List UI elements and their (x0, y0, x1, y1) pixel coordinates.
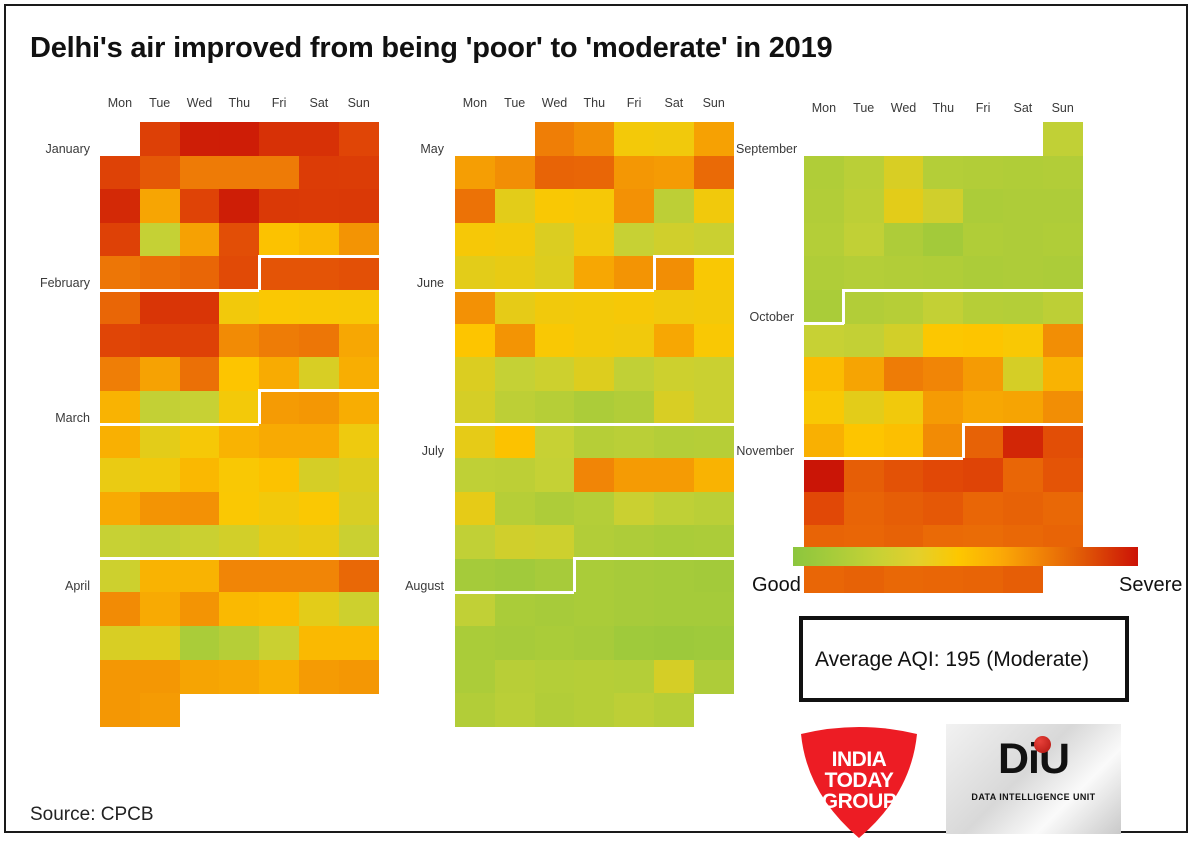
day-cell (963, 324, 1003, 358)
day-cell (694, 223, 734, 257)
day-cell (1003, 324, 1043, 358)
day-cell (1043, 391, 1083, 425)
day-cell (140, 559, 180, 593)
day-cell (614, 559, 654, 593)
day-cell (100, 256, 140, 290)
day-cell (694, 525, 734, 559)
day-cell (140, 660, 180, 694)
month-separator (455, 423, 734, 426)
day-cell (299, 492, 339, 526)
month-label-september: September (736, 142, 794, 156)
day-cell (339, 492, 379, 526)
day-cell (100, 559, 140, 593)
day-cell (455, 492, 495, 526)
day-cell (614, 592, 654, 626)
day-cell (495, 391, 535, 425)
day-cell (694, 559, 734, 593)
day-cell (804, 290, 844, 324)
day-cell (654, 156, 694, 190)
dow-header-fri: Fri (963, 101, 1003, 115)
day-cell (963, 391, 1003, 425)
day-cell (963, 189, 1003, 223)
day-cell (140, 122, 180, 156)
day-cell (574, 223, 614, 257)
month-separator (455, 591, 574, 594)
day-cell (219, 391, 259, 425)
day-cell (455, 391, 495, 425)
day-cell (963, 156, 1003, 190)
day-cell (844, 256, 884, 290)
day-cell (614, 324, 654, 358)
day-cell (259, 592, 299, 626)
day-cell (535, 626, 575, 660)
dow-header-mon: Mon (455, 96, 495, 110)
day-cell (455, 156, 495, 190)
day-cell (654, 458, 694, 492)
day-cell (455, 223, 495, 257)
month-label-february: February (28, 276, 90, 290)
day-cell (180, 189, 220, 223)
day-cell (495, 492, 535, 526)
dow-header-sat: Sat (654, 96, 694, 110)
day-cell (339, 189, 379, 223)
day-cell (574, 693, 614, 727)
day-cell (535, 189, 575, 223)
day-cell (1003, 223, 1043, 257)
day-cell (339, 458, 379, 492)
day-cell (219, 324, 259, 358)
infographic-frame: Delhi's air improved from being 'poor' t… (4, 4, 1188, 833)
month-separator (573, 557, 734, 560)
day-cell (654, 492, 694, 526)
day-cell (535, 156, 575, 190)
day-cell (535, 592, 575, 626)
day-cell (495, 290, 535, 324)
day-cell (804, 424, 844, 458)
day-cell (884, 492, 924, 526)
month-separator (100, 557, 379, 560)
day-cell (535, 559, 575, 593)
day-cell (535, 223, 575, 257)
day-cell (535, 122, 575, 156)
day-cell (614, 122, 654, 156)
day-cell (923, 156, 963, 190)
day-cell (844, 189, 884, 223)
month-separator (962, 423, 1083, 426)
day-cell (884, 391, 924, 425)
day-cell (339, 256, 379, 290)
day-cell (219, 122, 259, 156)
day-cell (1043, 256, 1083, 290)
dow-header-sun: Sun (694, 96, 734, 110)
india-today-group-logo: INDIA TODAY GROUP (799, 722, 919, 840)
day-cell (140, 357, 180, 391)
day-cell (1043, 122, 1083, 156)
day-cell (455, 424, 495, 458)
day-cell (259, 357, 299, 391)
day-cell (884, 424, 924, 458)
day-cell (140, 424, 180, 458)
day-cell (694, 256, 734, 290)
day-cell (614, 256, 654, 290)
day-cell (495, 357, 535, 391)
day-cell (804, 156, 844, 190)
day-cell (455, 189, 495, 223)
month-separator (258, 255, 379, 258)
day-cell (614, 156, 654, 190)
month-separator (962, 424, 965, 458)
day-cell (844, 357, 884, 391)
day-cell (339, 290, 379, 324)
day-cell (694, 458, 734, 492)
month-separator (258, 391, 261, 425)
day-cell (219, 424, 259, 458)
day-cell (259, 458, 299, 492)
day-cell (654, 391, 694, 425)
day-cell (100, 660, 140, 694)
day-cell (299, 223, 339, 257)
day-cell (614, 660, 654, 694)
day-cell (140, 391, 180, 425)
day-cell (259, 626, 299, 660)
day-cell (654, 592, 694, 626)
day-cell (844, 156, 884, 190)
dow-header-fri: Fri (614, 96, 654, 110)
day-cell (1043, 223, 1083, 257)
dow-header-wed: Wed (180, 96, 220, 110)
day-cell (574, 492, 614, 526)
day-cell (654, 324, 694, 358)
day-cell (654, 189, 694, 223)
day-cell (140, 492, 180, 526)
day-cell (574, 156, 614, 190)
day-cell (455, 458, 495, 492)
day-cell (614, 391, 654, 425)
day-cell (495, 559, 535, 593)
day-cell (219, 357, 259, 391)
day-cell (100, 626, 140, 660)
day-cell (259, 525, 299, 559)
day-cell (963, 223, 1003, 257)
day-cell (654, 122, 694, 156)
day-cell (1043, 458, 1083, 492)
dow-header-sun: Sun (339, 96, 379, 110)
day-cell (535, 693, 575, 727)
day-cell (923, 256, 963, 290)
day-cell (339, 626, 379, 660)
day-cell (299, 559, 339, 593)
day-cell (495, 458, 535, 492)
day-cell (219, 223, 259, 257)
diu-dot-icon (1034, 736, 1051, 753)
day-cell (804, 256, 844, 290)
day-cell (1003, 156, 1043, 190)
day-cell (614, 458, 654, 492)
day-cell (535, 357, 575, 391)
day-cell (219, 626, 259, 660)
day-cell (884, 458, 924, 492)
day-cell (299, 290, 339, 324)
day-cell (180, 525, 220, 559)
itg-line-3: GROUP (799, 790, 919, 814)
day-cell (535, 391, 575, 425)
day-cell (574, 189, 614, 223)
day-cell (495, 156, 535, 190)
day-cell (299, 324, 339, 358)
dow-header-thu: Thu (923, 101, 963, 115)
month-separator (100, 423, 259, 426)
day-cell (339, 660, 379, 694)
day-cell (299, 391, 339, 425)
day-cell (923, 189, 963, 223)
day-cell (574, 525, 614, 559)
day-cell (923, 357, 963, 391)
day-cell (180, 492, 220, 526)
dow-header-thu: Thu (219, 96, 259, 110)
day-cell (963, 256, 1003, 290)
day-cell (299, 256, 339, 290)
day-cell (219, 156, 259, 190)
dow-header-sat: Sat (1003, 101, 1043, 115)
day-cell (844, 324, 884, 358)
day-cell (180, 256, 220, 290)
day-cell (140, 324, 180, 358)
day-cell (535, 525, 575, 559)
average-aqi-text: Average AQI: 195 (Moderate) (815, 648, 1089, 672)
day-cell (1003, 357, 1043, 391)
day-cell (219, 290, 259, 324)
day-cell (574, 592, 614, 626)
day-cell (100, 189, 140, 223)
day-cell (1003, 189, 1043, 223)
dow-header-tue: Tue (844, 101, 884, 115)
legend-low-label: Good (752, 574, 801, 597)
day-cell (219, 660, 259, 694)
day-cell (455, 592, 495, 626)
day-cell (804, 324, 844, 358)
day-cell (259, 660, 299, 694)
day-cell (614, 189, 654, 223)
day-cell (923, 458, 963, 492)
day-cell (574, 122, 614, 156)
day-cell (574, 290, 614, 324)
day-cell (923, 391, 963, 425)
day-cell (100, 324, 140, 358)
day-cell (654, 357, 694, 391)
legend-high-label: Severe (1119, 574, 1182, 597)
day-cell (495, 424, 535, 458)
day-cell (180, 424, 220, 458)
day-cell (654, 256, 694, 290)
day-cell (299, 592, 339, 626)
day-cell (884, 290, 924, 324)
day-cell (654, 525, 694, 559)
day-cell (884, 256, 924, 290)
day-cell (1043, 290, 1083, 324)
month-label-november: November (736, 444, 794, 458)
day-cell (100, 223, 140, 257)
day-cell (299, 122, 339, 156)
day-cell (694, 492, 734, 526)
day-cell (1003, 290, 1043, 324)
day-cell (574, 256, 614, 290)
dow-header-mon: Mon (804, 101, 844, 115)
day-cell (100, 693, 140, 727)
day-cell (140, 189, 180, 223)
day-cell (614, 357, 654, 391)
day-cell (1003, 458, 1043, 492)
day-cell (180, 559, 220, 593)
day-cell (259, 324, 299, 358)
day-cell (140, 592, 180, 626)
day-cell (219, 492, 259, 526)
day-cell (180, 223, 220, 257)
day-cell (299, 156, 339, 190)
dow-header-tue: Tue (495, 96, 535, 110)
day-cell (535, 424, 575, 458)
day-cell (299, 357, 339, 391)
day-cell (574, 324, 614, 358)
day-cell (339, 156, 379, 190)
day-cell (455, 559, 495, 593)
month-separator (100, 289, 259, 292)
day-cell (100, 458, 140, 492)
month-separator (804, 322, 844, 325)
day-cell (694, 592, 734, 626)
day-cell (339, 223, 379, 257)
day-cell (694, 391, 734, 425)
day-cell (140, 290, 180, 324)
day-cell (654, 626, 694, 660)
day-cell (1003, 391, 1043, 425)
month-separator (804, 457, 963, 460)
color-scale-legend (793, 547, 1138, 566)
day-cell (1043, 156, 1083, 190)
day-cell (495, 223, 535, 257)
day-cell (574, 458, 614, 492)
diu-subtitle: DATA INTELLIGENCE UNIT (946, 792, 1121, 802)
day-cell (614, 290, 654, 324)
day-cell (1043, 189, 1083, 223)
day-cell (844, 391, 884, 425)
day-cell (654, 559, 694, 593)
day-cell (614, 492, 654, 526)
day-cell (219, 189, 259, 223)
day-cell (574, 660, 614, 694)
month-separator (842, 289, 1082, 292)
day-cell (339, 424, 379, 458)
day-cell (1043, 357, 1083, 391)
day-cell (694, 357, 734, 391)
day-cell (140, 458, 180, 492)
day-cell (535, 324, 575, 358)
day-cell (219, 525, 259, 559)
day-cell (923, 324, 963, 358)
day-cell (259, 424, 299, 458)
day-cell (259, 290, 299, 324)
day-cell (339, 525, 379, 559)
day-cell (100, 357, 140, 391)
day-cell (180, 626, 220, 660)
dow-header-wed: Wed (535, 96, 575, 110)
day-cell (259, 559, 299, 593)
day-cell (100, 290, 140, 324)
month-separator (258, 389, 379, 392)
day-cell (299, 189, 339, 223)
day-cell (963, 290, 1003, 324)
day-cell (844, 290, 884, 324)
day-cell (495, 525, 535, 559)
month-label-october: October (736, 310, 794, 324)
dow-header-wed: Wed (884, 101, 924, 115)
average-aqi-box: Average AQI: 195 (Moderate) (799, 616, 1129, 702)
month-separator (258, 256, 261, 290)
day-cell (574, 391, 614, 425)
day-cell (259, 223, 299, 257)
day-cell (100, 156, 140, 190)
day-cell (884, 223, 924, 257)
day-cell (694, 626, 734, 660)
dow-header-sun: Sun (1043, 101, 1083, 115)
day-cell (100, 424, 140, 458)
day-cell (180, 592, 220, 626)
day-cell (535, 660, 575, 694)
day-cell (495, 324, 535, 358)
month-separator (653, 256, 656, 290)
day-cell (495, 256, 535, 290)
day-cell (574, 357, 614, 391)
day-cell (574, 424, 614, 458)
day-cell (694, 324, 734, 358)
day-cell (339, 122, 379, 156)
day-cell (535, 492, 575, 526)
day-cell (574, 559, 614, 593)
day-cell (694, 156, 734, 190)
day-cell (455, 357, 495, 391)
month-label-april: April (28, 579, 90, 593)
day-cell (804, 391, 844, 425)
dow-header-tue: Tue (140, 96, 180, 110)
day-cell (259, 156, 299, 190)
day-cell (140, 626, 180, 660)
day-cell (219, 458, 259, 492)
day-cell (140, 223, 180, 257)
day-cell (923, 424, 963, 458)
day-cell (654, 223, 694, 257)
month-separator (455, 289, 654, 292)
day-cell (535, 256, 575, 290)
month-label-july: July (386, 444, 444, 458)
day-cell (299, 525, 339, 559)
month-separator (653, 255, 734, 258)
day-cell (844, 223, 884, 257)
day-cell (259, 122, 299, 156)
day-cell (339, 357, 379, 391)
day-cell (180, 458, 220, 492)
day-cell (614, 693, 654, 727)
day-cell (694, 189, 734, 223)
day-cell (495, 592, 535, 626)
day-cell (694, 122, 734, 156)
day-cell (614, 223, 654, 257)
day-cell (963, 424, 1003, 458)
day-cell (299, 458, 339, 492)
dow-header-fri: Fri (259, 96, 299, 110)
month-separator (573, 559, 576, 593)
day-cell (180, 357, 220, 391)
day-cell (259, 492, 299, 526)
day-cell (694, 424, 734, 458)
